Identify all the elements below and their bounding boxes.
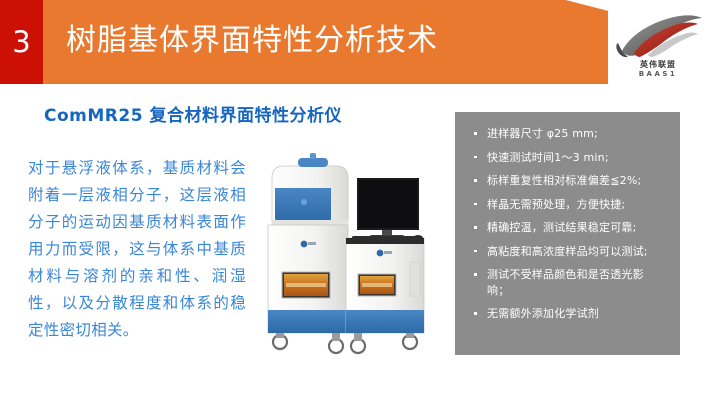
spec-list: 进样器尺寸 φ25 mm; 快速测试时间1～3 min; 标样重复性相对标准偏差…	[471, 126, 666, 322]
page-title: 树脂基体界面特性分析技术	[66, 22, 438, 60]
slide-number-block: 3	[0, 0, 43, 84]
product-heading: ComMR25 复合材料界面特性分析仪	[44, 101, 342, 126]
spec-item: 快速测试时间1～3 min;	[471, 150, 666, 166]
logo-subtitle: 英伟联盟	[610, 59, 706, 70]
spec-panel: 进样器尺寸 φ25 mm; 快速测试时间1～3 min; 标样重复性相对标准偏差…	[455, 112, 680, 355]
rog-eagle-logo: 英伟联盟 BAAS1	[610, 9, 706, 79]
body-paragraph: 对于悬浮液体系，基质材料会附着一层液相分子，这层液相分子的运动因基质材料表面作用…	[28, 155, 246, 344]
logo-wordmark: BAAS1	[610, 70, 706, 78]
spec-item: 样晶无需预处理，方便快捷;	[471, 197, 666, 213]
equipment-photo	[258, 150, 448, 365]
spec-item: 进样器尺寸 φ25 mm;	[471, 126, 666, 142]
spec-item: 精确控温，测试结果稳定可靠;	[471, 220, 666, 236]
spec-item: 高粘度和高浓度样品均可以测试;	[471, 244, 666, 260]
spec-item: 无需额外添加化学试剂	[471, 306, 666, 322]
spec-item: 测试不受样品颜色和是否透光影响；	[471, 267, 666, 298]
slide-number: 3	[12, 28, 30, 57]
spec-item: 标样重复性相对标准偏差≦2%;	[471, 173, 666, 189]
